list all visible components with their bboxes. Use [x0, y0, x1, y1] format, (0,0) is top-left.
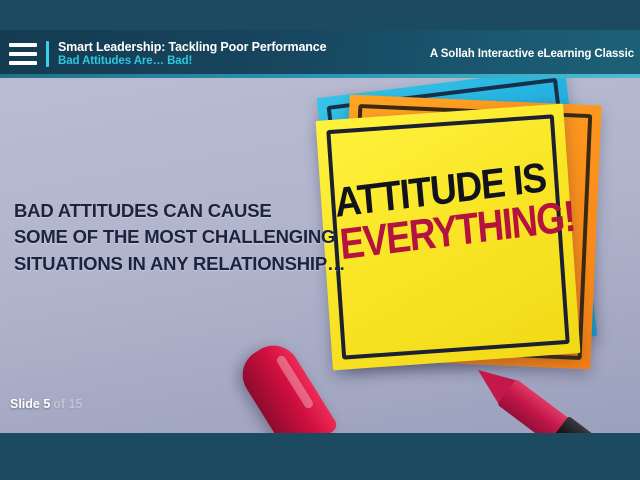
- slide-counter-current: Slide 5: [10, 397, 50, 411]
- hamburger-menu-icon[interactable]: [0, 30, 46, 78]
- headline-line-2: SOME OF THE MOST CHALLENGING: [14, 224, 345, 250]
- hamburger-bar-1: [9, 43, 37, 47]
- player-header: Smart Leadership: Tackling Poor Performa…: [0, 30, 640, 78]
- headline-line-1: BAD ATTITUDES CAN CAUSE: [14, 198, 345, 224]
- slide-stage: ATTITUDE IS EVERYTHING! BAD ATTITUDES CA…: [0, 78, 640, 433]
- hamburger-bar-2: [9, 52, 37, 56]
- sticky-note-stack-image: ATTITUDE IS EVERYTHING!: [306, 78, 640, 424]
- lesson-title: Bad Attitudes Are… Bad!: [58, 55, 326, 68]
- hamburger-bar-3: [9, 61, 37, 65]
- sticky-note-front-yellow: ATTITUDE IS EVERYTHING!: [316, 104, 581, 371]
- slide-headline: BAD ATTITUDES CAN CAUSE SOME OF THE MOST…: [14, 198, 345, 277]
- course-title: Smart Leadership: Tackling Poor Performa…: [58, 40, 326, 54]
- headline-line-3: SITUATIONS IN ANY RELATIONSHIP…: [14, 251, 345, 277]
- slide-counter: Slide 5of 15: [10, 397, 82, 411]
- brand-label: A Sollah Interactive eLearning Classic: [430, 48, 634, 60]
- letterbox-bottom: [0, 433, 640, 480]
- elearning-player: Smart Leadership: Tackling Poor Performa…: [0, 0, 640, 480]
- header-titles: Smart Leadership: Tackling Poor Performa…: [58, 40, 326, 68]
- header-divider: [46, 41, 49, 67]
- letterbox-top: [0, 0, 640, 30]
- slide-counter-total: of 15: [53, 397, 82, 411]
